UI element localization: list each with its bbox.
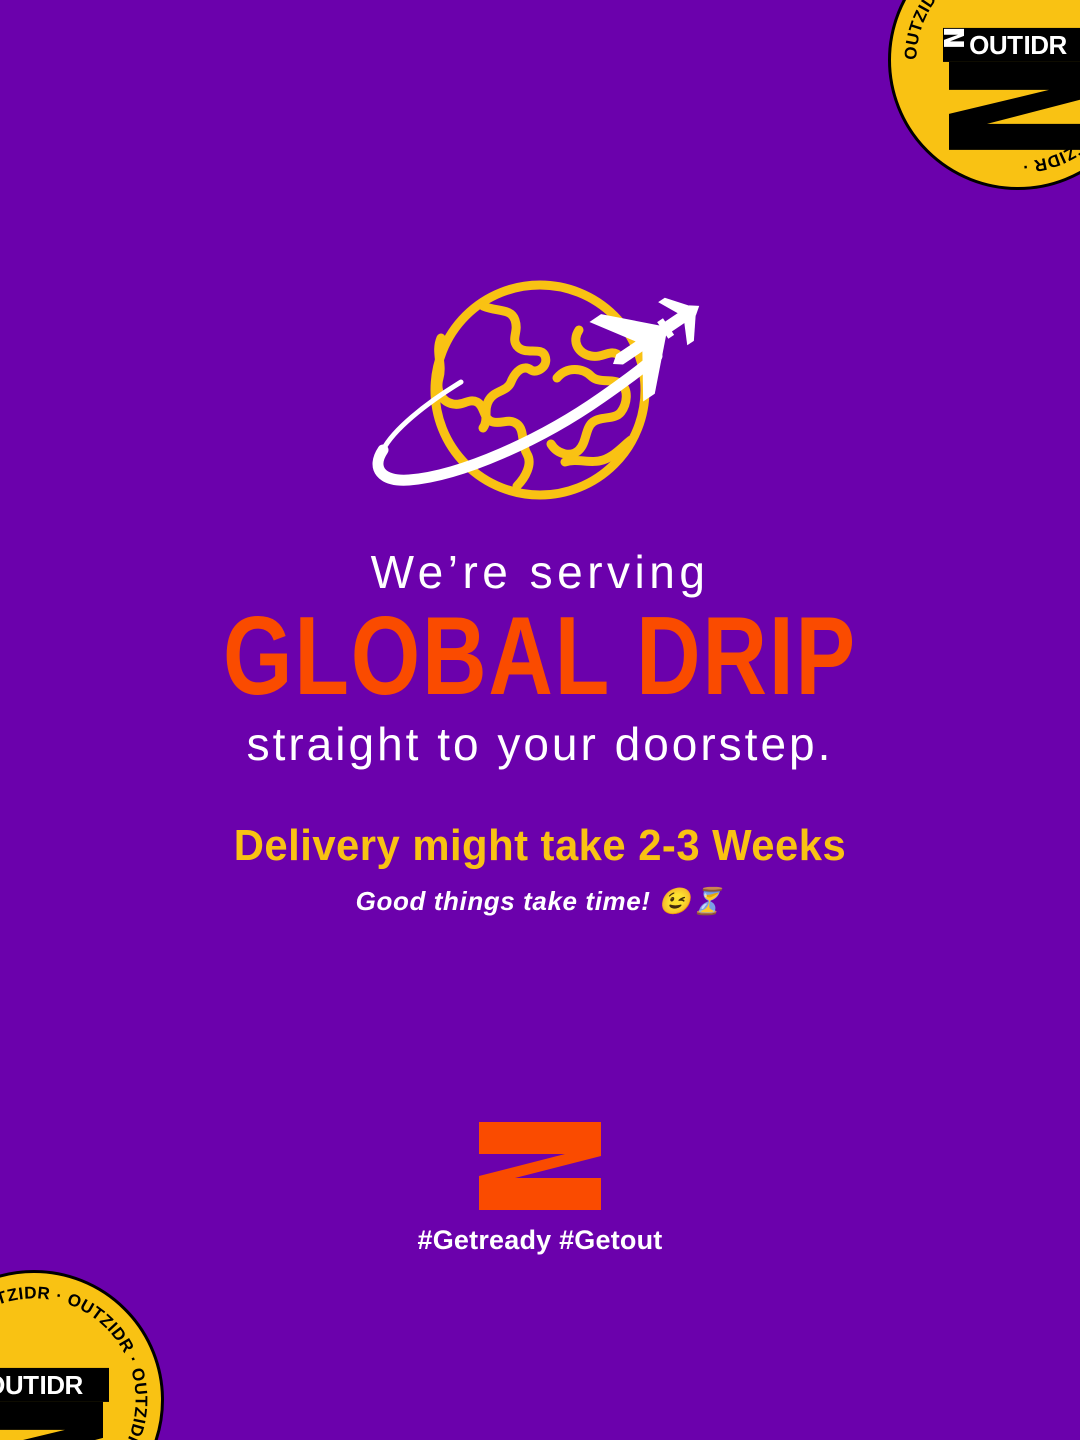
badge-brand-part1: OUT (0, 1372, 39, 1398)
promo-poster: OUTZIDR · OUTZIDR · OUTZIDR · OUTZIDR · … (0, 0, 1080, 1440)
headline-block: We’re serving GLOBAL DRIP straight to yo… (0, 548, 1080, 768)
badge-z-icon (0, 1398, 109, 1440)
outzidr-sticker-badge-top-right: OUTZIDR · OUTZIDR · OUTZIDR · OUTZIDR · … (888, 0, 1080, 190)
outzidr-z-logo-icon (479, 1122, 601, 1210)
badge-brand-word: OUT IDR (943, 28, 1080, 62)
globe-airplane-illustration (0, 272, 1080, 512)
badge-brand-part2: IDR (40, 1372, 83, 1398)
badge-brand-part2: IDR (1024, 32, 1067, 58)
headline-line-2: GLOBAL DRIP (38, 591, 1042, 722)
delivery-subtext: Good things take time! 😉⏳ (0, 886, 1080, 917)
badge-brand-word: OUT IDR (0, 1368, 109, 1402)
delivery-headline: Delivery might take 2-3 Weeks (27, 822, 1053, 870)
badge-core: OUT IDR (943, 58, 1080, 62)
delivery-block: Delivery might take 2-3 Weeks Good thing… (0, 822, 1080, 917)
badge-z-icon (943, 58, 1080, 154)
badge-z-mini-icon (943, 28, 965, 48)
headline-line-3: straight to your doorstep. (0, 720, 1080, 768)
badge-core: OUT IDR (0, 1398, 109, 1402)
footer-tagline: #Getready #Getout (0, 1225, 1080, 1256)
badge-brand-part1: OUT (969, 32, 1022, 58)
outzidr-sticker-badge-bottom-left: OUTZIDR · OUTZIDR · OUTZIDR · OUTZIDR · … (0, 1270, 164, 1440)
footer-block: #Getready #Getout (0, 1122, 1080, 1256)
globe-airplane-icon (365, 272, 715, 512)
headline-line-1: We’re serving (0, 548, 1080, 596)
